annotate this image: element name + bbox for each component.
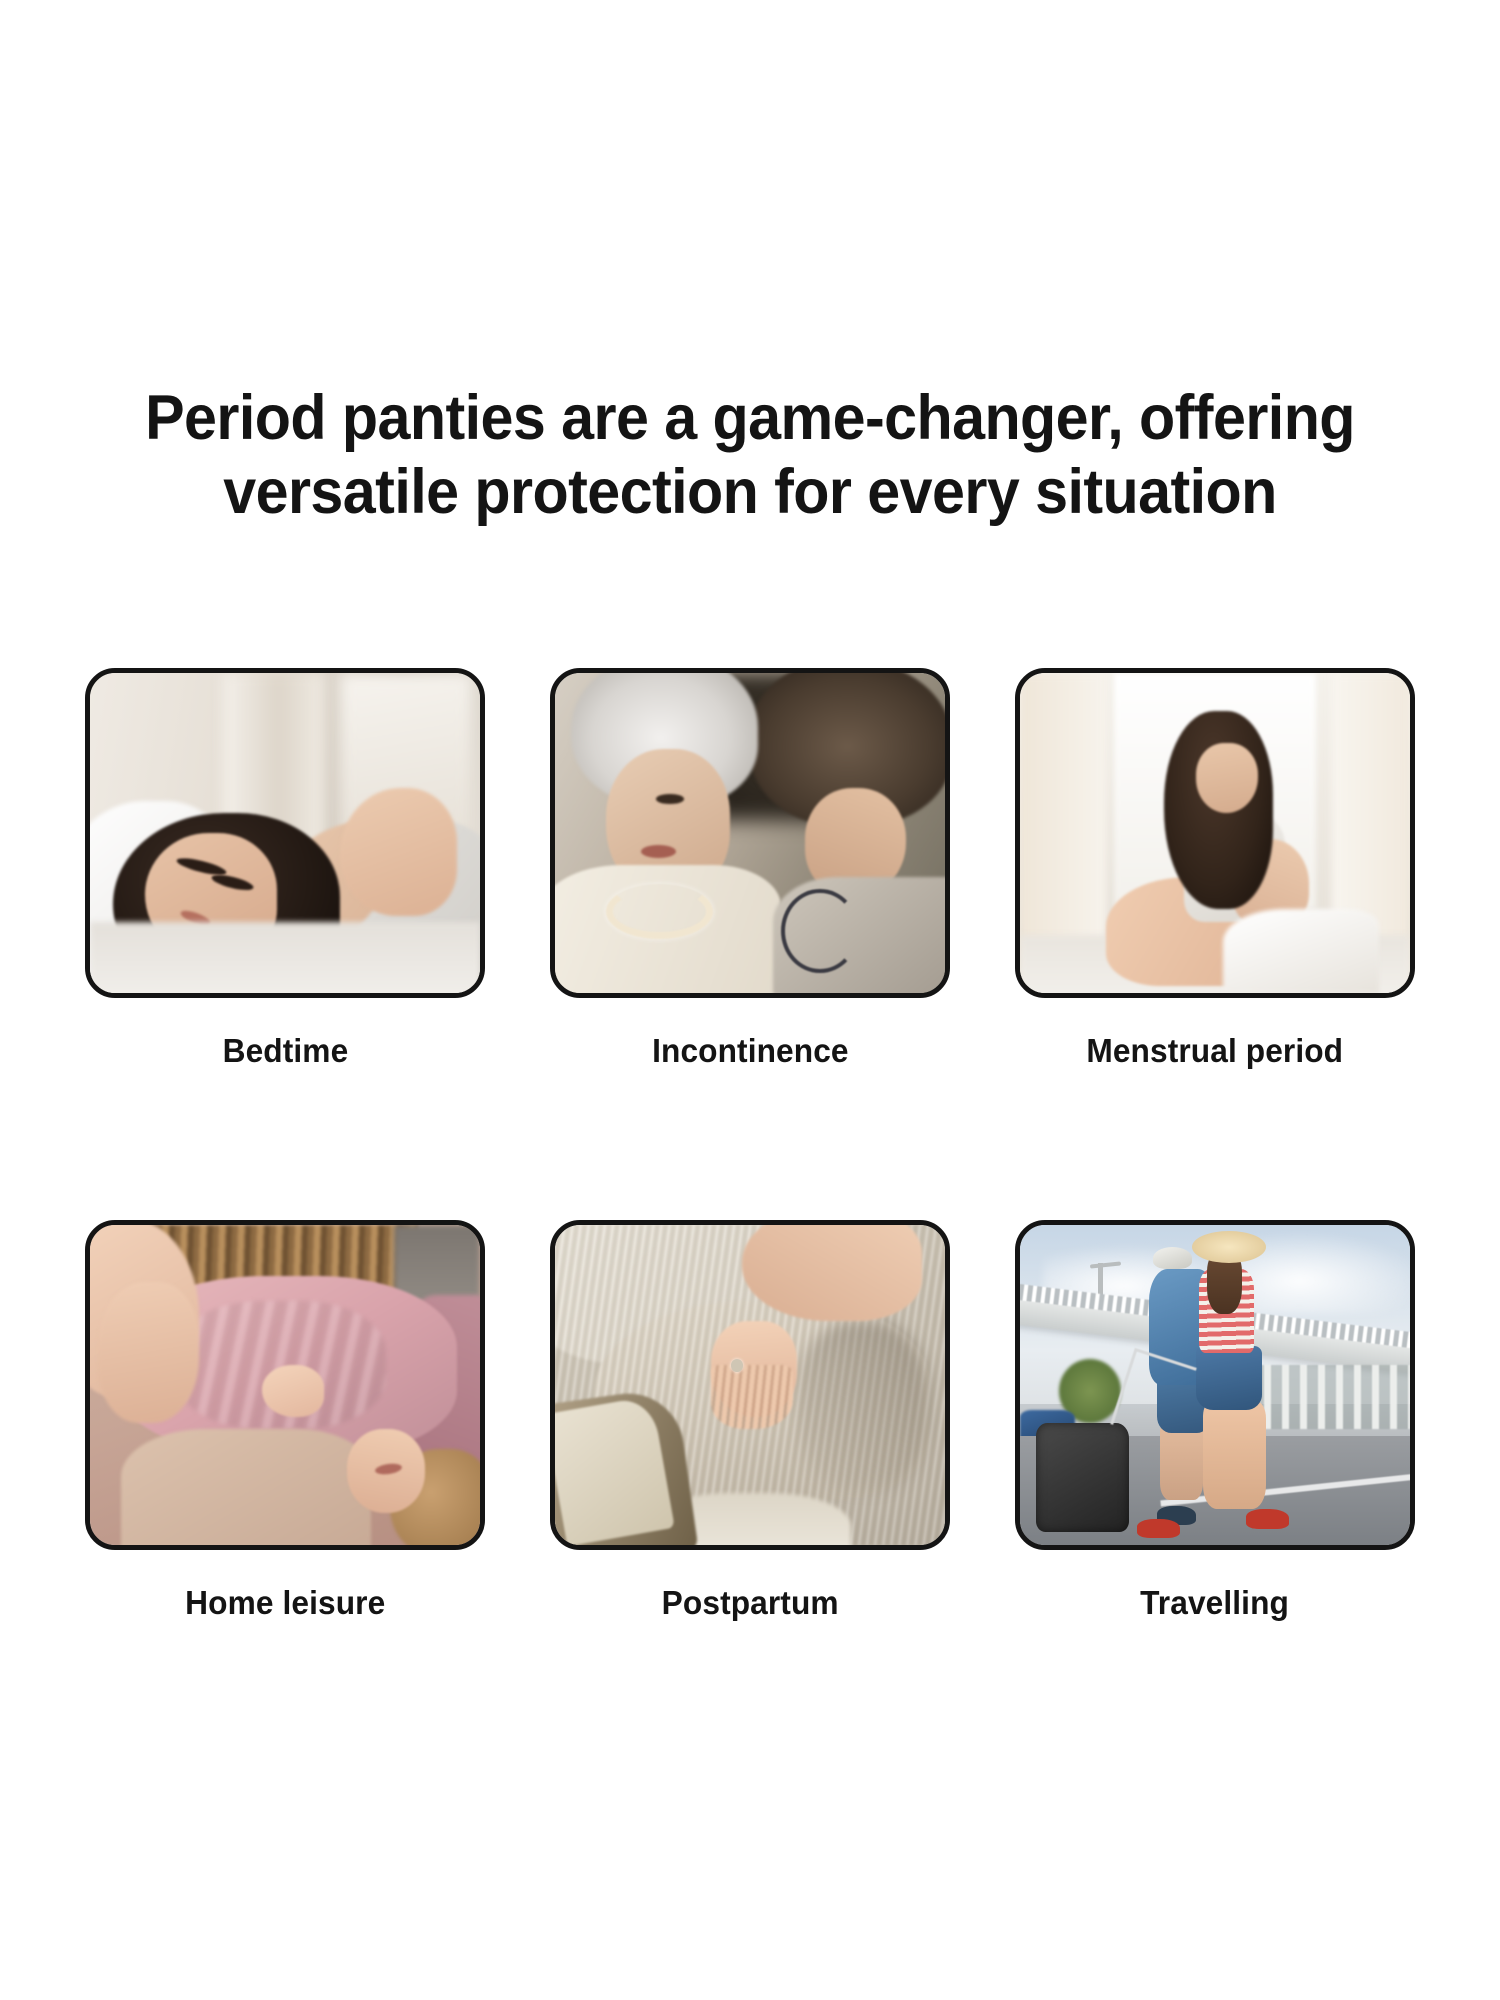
use-case-card-menstrual-period[interactable]: Menstrual period [1015, 668, 1415, 1070]
woman-denim-shorts-shape [1196, 1346, 1262, 1410]
card-caption: Menstrual period [1087, 1032, 1344, 1070]
use-case-card-travelling[interactable]: Travelling [1015, 1220, 1415, 1622]
woman-with-cramps-on-bed-image [1020, 673, 1410, 993]
woman-legs-shape [1203, 1401, 1265, 1510]
couple-walking-with-suitcase-image [1020, 1225, 1410, 1545]
card-caption: Incontinence [652, 1032, 849, 1070]
page-title-line-2: versatile protection for every situation [111, 456, 1389, 530]
ring-shape [731, 1359, 743, 1372]
menstrual-period-thumbnail [1015, 668, 1415, 998]
pearl-necklace-shape [606, 884, 714, 940]
card-caption: Bedtime [222, 1032, 348, 1070]
eye-shape [656, 794, 683, 804]
arm-shape [340, 788, 457, 916]
bedtime-thumbnail [85, 668, 485, 998]
card-caption: Home leisure [185, 1584, 385, 1622]
promo-page: Period panties are a game-changer, offer… [0, 0, 1500, 2000]
shadow-shape [797, 1321, 930, 1494]
fingers-shape [711, 1365, 793, 1429]
use-case-card-home-leisure[interactable]: Home leisure [85, 1220, 485, 1622]
page-title: Period panties are a game-changer, offer… [111, 382, 1389, 529]
use-case-card-postpartum[interactable]: Postpartum [550, 1220, 950, 1622]
blanket-shape [1223, 909, 1379, 992]
robe-shape [121, 1429, 371, 1544]
home-leisure-thumbnail [85, 1220, 485, 1550]
man-hat-shape [1153, 1247, 1192, 1269]
arm-shape [742, 1225, 921, 1321]
use-case-card-incontinence[interactable]: Incontinence [550, 668, 950, 1070]
woman-red-shoe-shape-2 [1137, 1519, 1180, 1538]
use-case-card-bedtime[interactable]: Bedtime [85, 668, 485, 1070]
use-case-grid: Bedtime [85, 668, 1415, 1622]
stethoscope-shape [781, 889, 859, 974]
card-caption: Postpartum [661, 1584, 838, 1622]
hand-shape [262, 1365, 324, 1416]
incontinence-thumbnail [550, 668, 950, 998]
bedsheet-shape [90, 922, 480, 992]
woman-sleeping-in-bed-image [90, 673, 480, 993]
woman-resting-hand-on-belly-image [555, 1225, 945, 1545]
leg-shape-2 [98, 1282, 199, 1423]
travelling-thumbnail [1015, 1220, 1415, 1550]
card-caption: Travelling [1141, 1584, 1290, 1622]
postpartum-thumbnail [550, 1220, 950, 1550]
woman-straw-hat-shape [1192, 1231, 1266, 1263]
woman-red-shoe-shape [1246, 1509, 1289, 1528]
suitcase-shape [1036, 1423, 1130, 1532]
elderly-woman-with-caregiver-image [555, 673, 945, 993]
woman-relaxing-on-pink-couch-image [90, 1225, 480, 1545]
page-title-line-1: Period panties are a game-changer, offer… [111, 382, 1389, 456]
